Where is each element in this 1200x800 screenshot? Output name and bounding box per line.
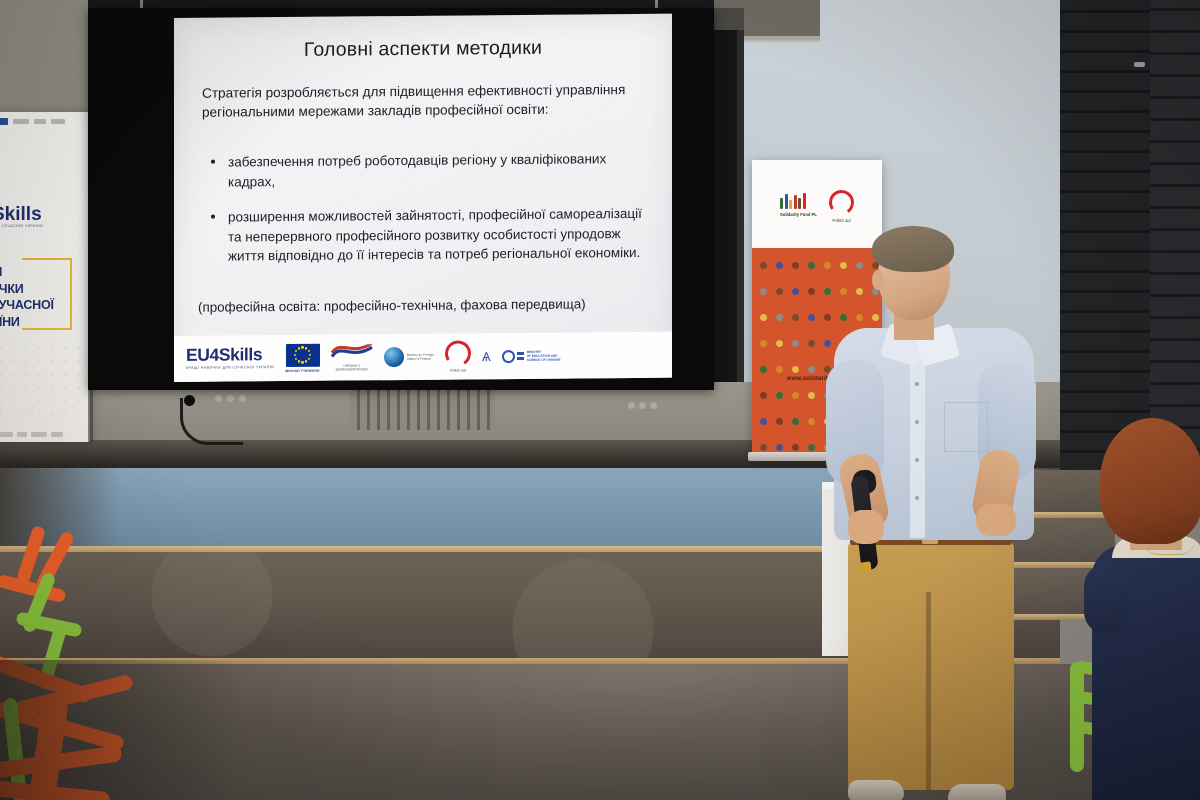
presenter-trouser-seam (926, 592, 931, 790)
eu-flag-logo: MOVING FORWARD (285, 343, 319, 372)
banner-left-tagline: ДЛЯ СУЧАСНОЇ УКРАЇНИ (0, 224, 43, 228)
rollup-banner-left: Skills ДЛЯ СУЧАСНОЇ УКРАЇНИ ЦІ ИЧКИ СУЧА… (0, 112, 90, 442)
polish-aid-logo: Polish aid (445, 340, 471, 372)
slide-intro-text: Стратегія розробляється для підвищення е… (202, 80, 648, 122)
power-outlet (650, 402, 657, 409)
ministry-mark-icon (502, 349, 524, 362)
partner-logo-icon (17, 432, 27, 437)
eu-flag-icon (0, 118, 8, 125)
radiator (350, 384, 495, 430)
foreground-shadow (0, 660, 240, 800)
banner-left-dot-pattern (0, 342, 90, 416)
cable-plug (184, 395, 195, 406)
shirt-button (915, 458, 919, 462)
eu4skills-wordmark: EU4Skills (186, 347, 274, 365)
slide-logo-strip: EU4Skills КРАЩІ НАВИЧКИ ДЛЯ СУЧАСНОЇ УКР… (174, 332, 672, 382)
finland-partner-logo: Ministry for Foreign Affairs of Finland (384, 347, 434, 367)
solidarity-fund-logo: Solidarity Fund PL (780, 190, 817, 217)
presenter-shoe-right (948, 784, 1006, 800)
photo-scene: Skills ДЛЯ СУЧАСНОЇ УКРАЇНИ ЦІ ИЧКИ СУЧА… (0, 0, 1200, 800)
banner-orange-logos: Solidarity Fund PL Polish aid (752, 190, 882, 223)
presenter-person (826, 232, 1046, 760)
presenter-shoe-left (848, 780, 904, 800)
eu4skills-logo: EU4Skills КРАЩІ НАВИЧКИ ДЛЯ СУЧАСНОЇ УКР… (186, 347, 274, 371)
presenter-shirt-placket (910, 352, 925, 538)
polish-aid-label: Polish aid (450, 368, 466, 372)
slide-bullet-item: розширення можливостей зайнятості, профе… (202, 204, 654, 267)
solidarity-fund-label: Solidarity Fund PL (780, 212, 817, 217)
partner-logo-icon (0, 432, 13, 437)
people-figures-icon (780, 190, 817, 209)
partner-logo-icon (13, 119, 29, 124)
eu4skills-tagline: КРАЩІ НАВИЧКИ ДЛЯ СУЧАСНОЇ УКРАЇНИ (186, 366, 274, 370)
audience-shoulder (1084, 564, 1128, 634)
presenter-hair (872, 226, 954, 272)
banner-left-brand: Skills (0, 204, 42, 226)
audience-person (1082, 418, 1200, 800)
polish-aid-label: Polish aid (829, 218, 854, 223)
microphone-tip (859, 561, 871, 571)
partner-logo-icon (34, 119, 46, 124)
presenter-hand-right (976, 504, 1016, 536)
polish-aid-arc-icon (827, 188, 856, 217)
brick-column-right (1150, 0, 1200, 470)
presenter-ear (872, 270, 884, 290)
eu-flag-icon (286, 343, 320, 366)
shirt-button (915, 420, 919, 424)
banner-left-bottom-logos (0, 432, 87, 437)
audience-hair (1100, 418, 1200, 544)
banner-left-top-logos (0, 118, 88, 125)
wall-hook-icon (1134, 62, 1145, 67)
banner-left-headline: ЦІ ИЧКИ СУЧАСНОЇ АЇНИ (0, 264, 78, 330)
ministry-bars-icon (517, 352, 524, 361)
ukraine-trident-icon: Ѧ (482, 350, 491, 363)
ministry-label: MINISTRY OF EDUCATION AND SCIENCE OF UKR… (527, 350, 561, 362)
partner-logo-icon (31, 432, 47, 437)
wave-icon (331, 344, 373, 363)
polish-aid-logo-banner: Polish aid (829, 190, 854, 223)
polish-aid-arc-icon (443, 338, 474, 369)
trident-emblem: Ѧ (482, 350, 491, 363)
slide-bullet-item: забезпечення потреб роботодавців регіону… (202, 149, 654, 192)
presenter-shirt-pocket (944, 402, 988, 452)
globe-icon (384, 347, 404, 367)
eu-flag-caption: MOVING FORWARD (285, 368, 319, 372)
ministry-circle-icon (502, 350, 515, 363)
ministry-logo: MINISTRY OF EDUCATION AND SCIENCE OF UKR… (502, 349, 561, 363)
power-outlet (628, 402, 635, 409)
power-outlet (639, 402, 646, 409)
presenter-hand-left (848, 510, 884, 544)
presenter-trousers (848, 540, 1014, 790)
shirt-button (915, 496, 919, 500)
swedish-partner-label: співпраця з ВЕЛИКОБРИТАНІЄЮ (336, 363, 368, 371)
presentation-slide: Головні аспекти методики Стратегія розро… (174, 14, 672, 382)
shirt-button (915, 382, 919, 386)
partner-logo-icon (51, 432, 63, 437)
swedish-partner-logo: співпраця з ВЕЛИКОБРИТАНІЄЮ (331, 344, 373, 371)
slide-note: (професійна освіта: професійно-технічна,… (198, 296, 658, 315)
partner-logo-icon (51, 119, 65, 124)
slide-title: Головні аспекти методики (174, 36, 672, 63)
slide-bullet-list: забезпечення потреб роботодавців регіону… (202, 149, 654, 283)
finland-partner-label: Ministry for Foreign Affairs of Finland (407, 353, 434, 361)
